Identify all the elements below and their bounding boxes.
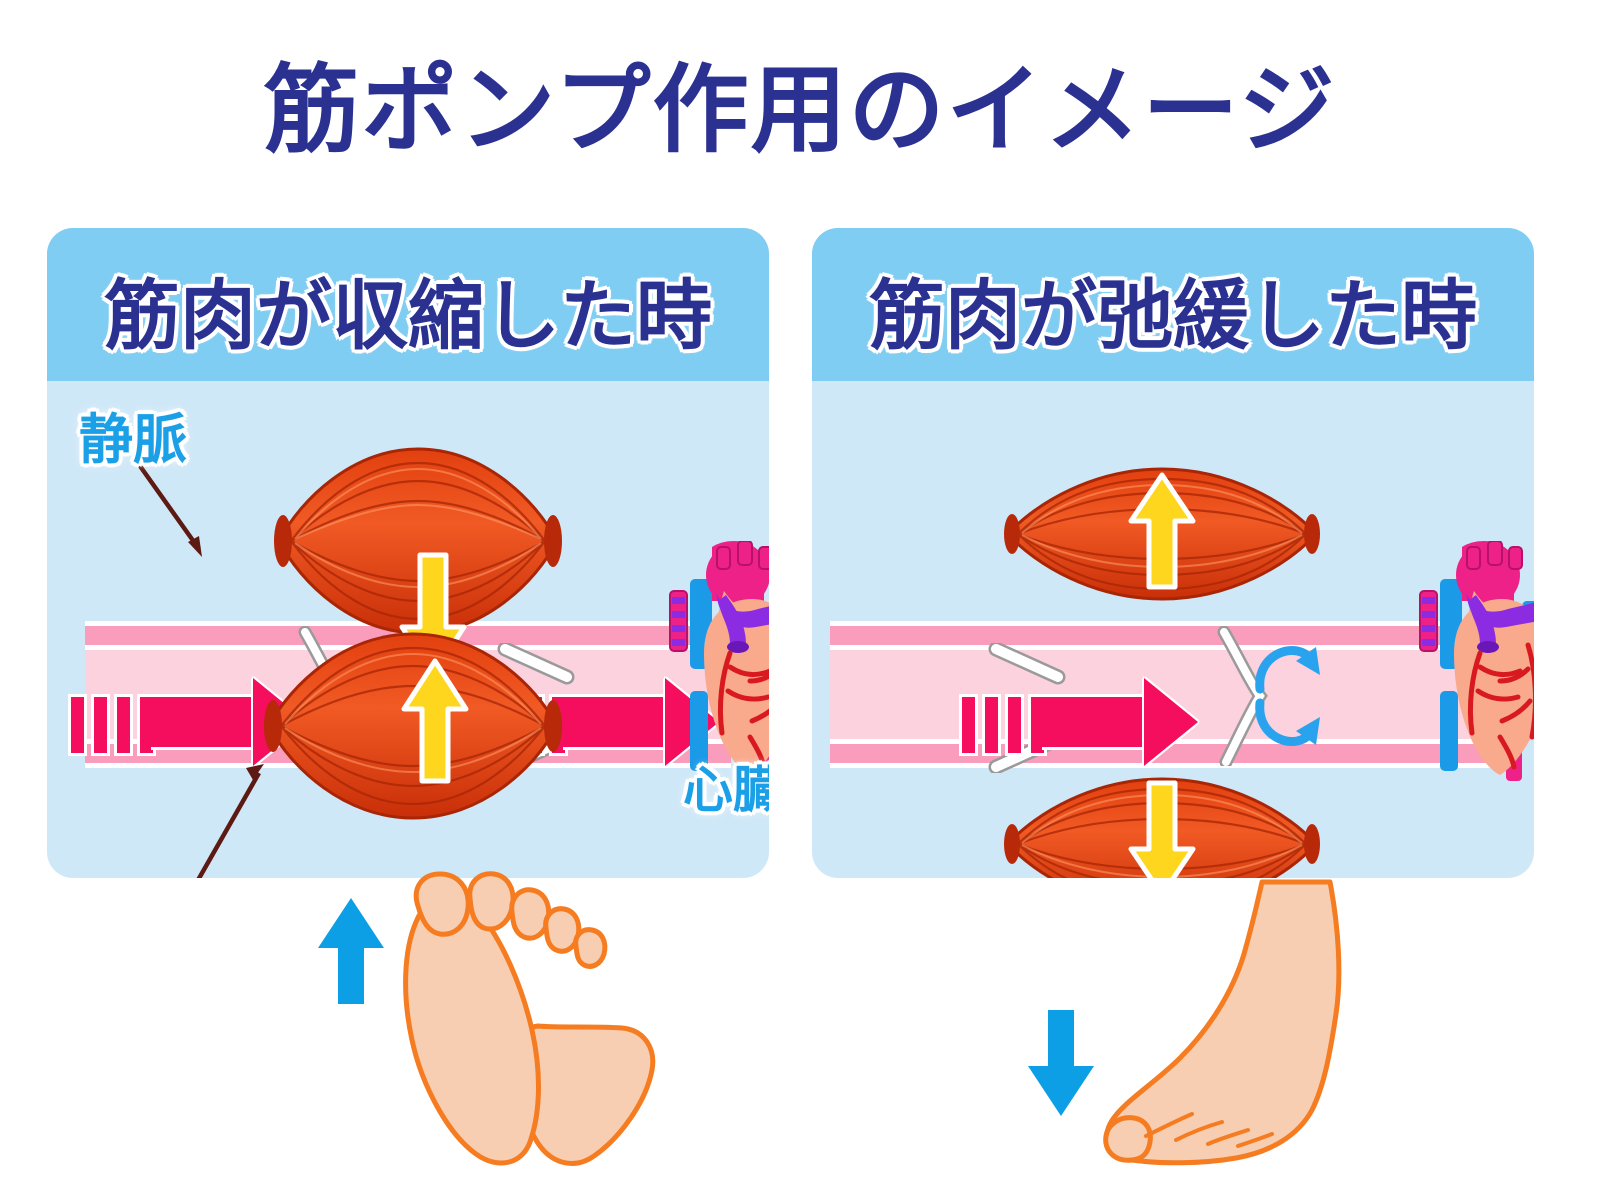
heart-organ-icon-right <box>1410 541 1534 785</box>
panel-body-right <box>812 381 1534 878</box>
vein-separator-top <box>830 645 1496 650</box>
backflow-block-arrow-icon-right <box>1250 631 1330 765</box>
blue-up-arrow-icon <box>316 896 386 1010</box>
blood-flow-arrow-head <box>1144 678 1198 766</box>
vein-label: 静脈 <box>79 395 187 474</box>
panel-muscle-relaxed: 筋肉が弛緩した時 <box>812 228 1534 878</box>
panel-header-right: 筋肉が弛緩した時 <box>812 228 1534 381</box>
blood-flow-arrow-body <box>563 694 667 750</box>
blood-flow-arrow-body <box>1042 694 1146 750</box>
heart-label: 心臓 <box>683 750 769 822</box>
yellow-up-arrow-icon-right <box>1124 471 1200 595</box>
diagram-canvas: 筋ポンプ作用のイメージ 筋肉が収縮した時 <box>0 0 1600 1200</box>
blood-flow-arrow-body <box>151 694 255 750</box>
vein-wall-top <box>830 621 1496 645</box>
heart-organ-icon-left <box>660 541 769 785</box>
panel-muscle-contracted: 筋肉が収縮した時 <box>47 228 769 878</box>
foot-flat-icon <box>1098 878 1378 1182</box>
foot-tiptoe-icon <box>398 870 658 1174</box>
yellow-down-arrow-icon-right <box>1124 779 1200 878</box>
panel-header-label-left: 筋肉が収縮した時 <box>47 254 769 364</box>
open-valve-icon-right-top <box>988 643 1068 689</box>
panel-body-left: 静脈 弁 ふくらはぎの筋肉 心臓 <box>47 381 769 878</box>
yellow-up-arrow-icon-left <box>397 657 473 791</box>
blood-flow-arrow-tail <box>962 694 1047 750</box>
panel-header-label-right: 筋肉が弛緩した時 <box>812 254 1534 364</box>
panel-header-left: 筋肉が収縮した時 <box>47 228 769 381</box>
blue-down-arrow-icon <box>1026 1008 1096 1122</box>
blood-flow-arrow-tail <box>71 694 156 750</box>
page-title: 筋ポンプ作用のイメージ <box>0 58 1600 164</box>
